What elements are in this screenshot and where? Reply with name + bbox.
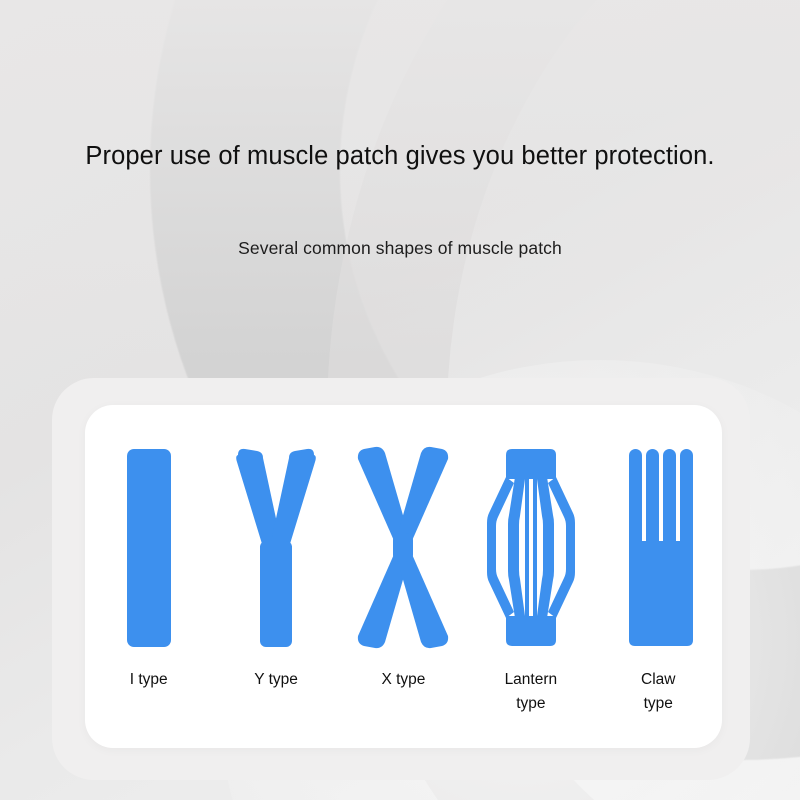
shape-item-x-type[interactable]: X type — [344, 445, 462, 692]
shape-label: I type — [130, 668, 168, 692]
page-stage: Proper use of muscle patch gives you bet… — [0, 0, 800, 800]
page-title: Proper use of muscle patch gives you bet… — [0, 142, 800, 171]
shape-label: Claw type — [641, 668, 675, 716]
claw-type-patch-icon — [608, 445, 708, 650]
lantern-type-patch-icon — [481, 445, 581, 650]
shape-item-lantern-type[interactable]: Lantern type — [472, 445, 590, 716]
shapes-row: I type Y type — [85, 405, 722, 748]
shape-label: Y type — [254, 668, 298, 692]
shape-item-claw-type[interactable]: Claw type — [599, 445, 717, 716]
shape-item-i-type[interactable]: I type — [90, 445, 208, 692]
shape-label: X type — [381, 668, 425, 692]
x-type-patch-icon — [353, 445, 453, 650]
shape-label: Lantern type — [505, 668, 558, 716]
page-subtitle: Several common shapes of muscle patch — [0, 238, 800, 259]
i-type-patch-icon — [99, 445, 199, 650]
shape-item-y-type[interactable]: Y type — [217, 445, 335, 692]
y-type-patch-icon — [226, 445, 326, 650]
